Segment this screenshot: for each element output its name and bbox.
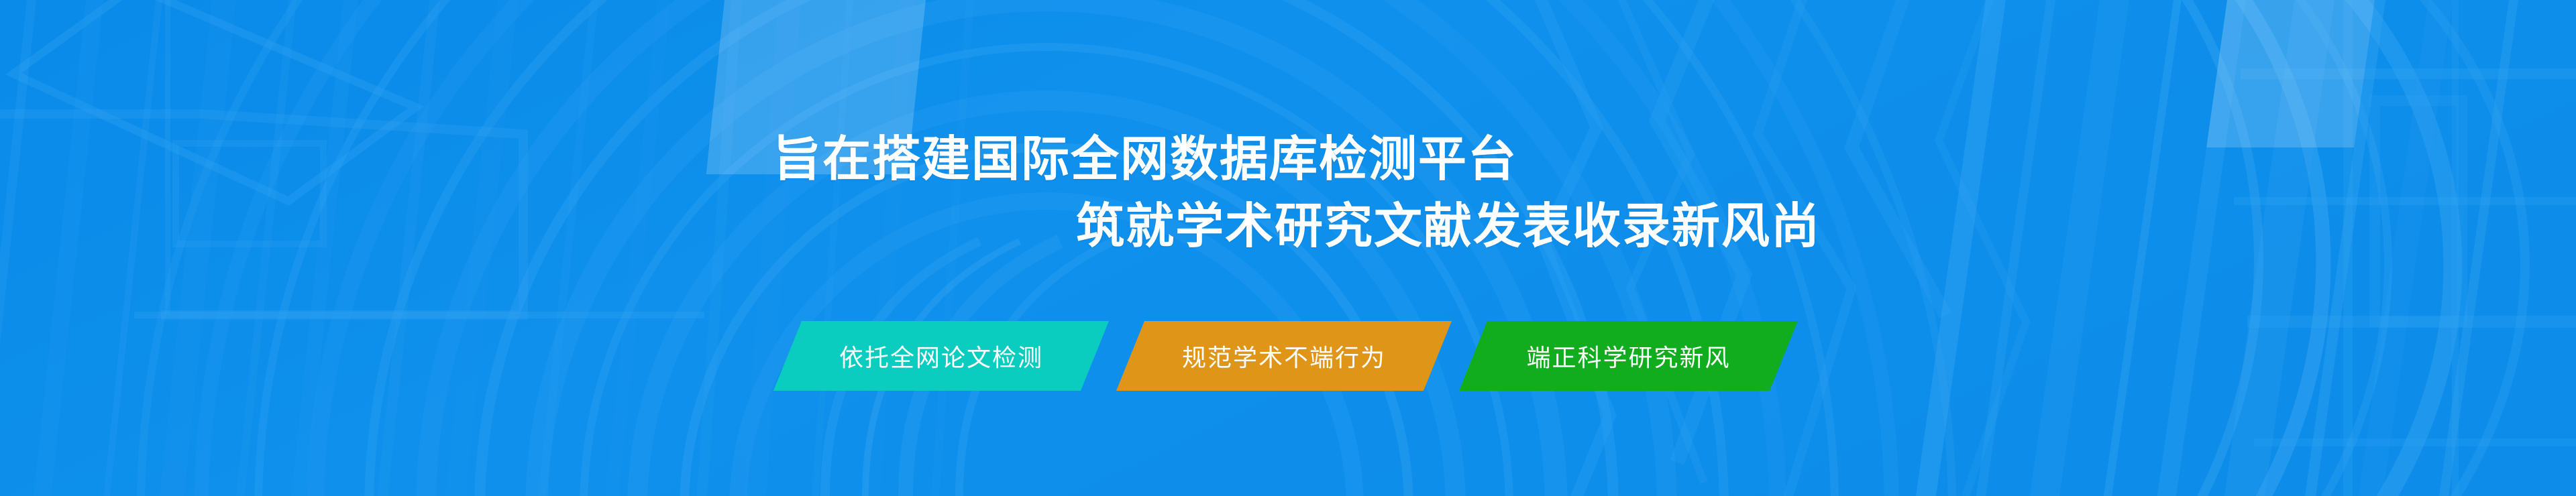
tag-row: 依托全网论文检测 规范学术不端行为 端正科学研究新风 [0,321,2576,391]
tag-research[interactable]: 端正科学研究新风 [1459,321,1798,391]
tag-detection-label: 依托全网论文检测 [839,338,1043,373]
headline-line-1: 旨在搭建国际全网数据库检测平台 [773,126,2576,193]
hero-banner: 旨在搭建国际全网数据库检测平台 筑就学术研究文献发表收录新风尚 依托全网论文检测… [0,0,2576,496]
headline-line-2: 筑就学术研究文献发表收录新风尚 [1076,193,2576,260]
tag-misconduct-label: 规范学术不端行为 [1182,338,1386,373]
headline-block: 旨在搭建国际全网数据库检测平台 筑就学术研究文献发表收录新风尚 [0,126,2576,260]
banner-content: 旨在搭建国际全网数据库检测平台 筑就学术研究文献发表收录新风尚 依托全网论文检测… [0,0,2576,496]
tag-misconduct[interactable]: 规范学术不端行为 [1116,321,1452,391]
tag-detection[interactable]: 依托全网论文检测 [773,321,1109,391]
tag-research-label: 端正科学研究新风 [1526,338,1730,373]
